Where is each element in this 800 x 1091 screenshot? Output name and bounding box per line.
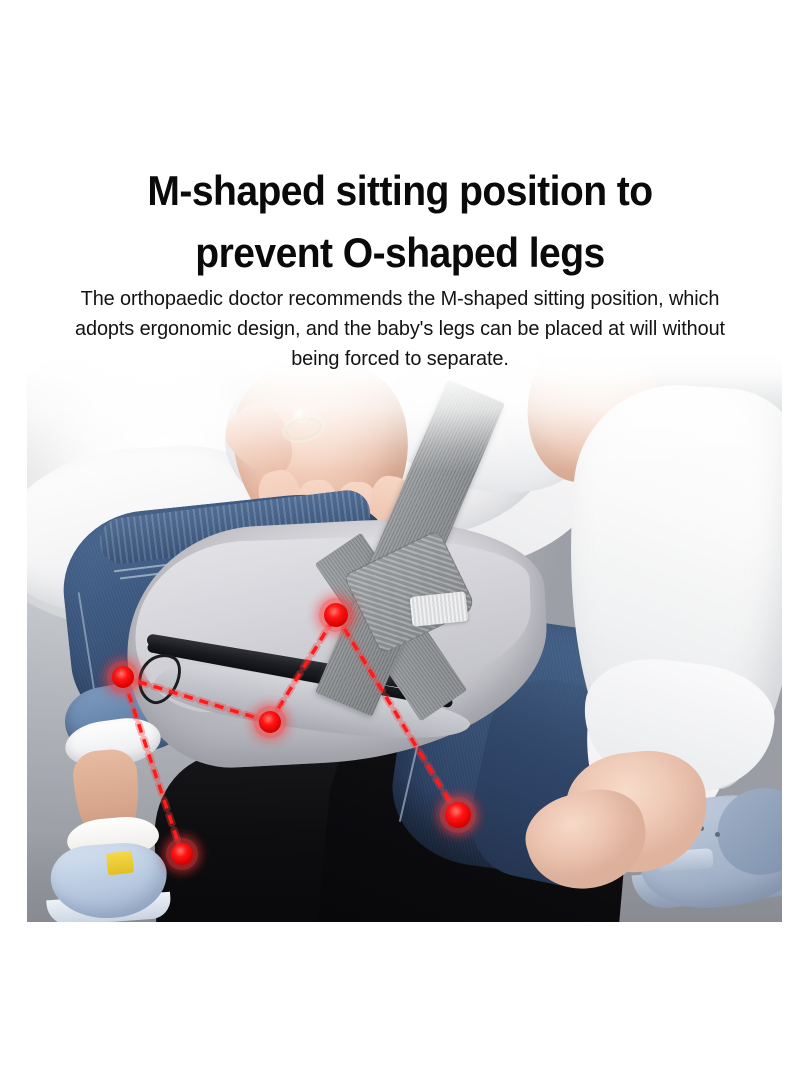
- left-white-margin: [0, 352, 27, 922]
- page-description-line-2: adopts ergonomic design, and the baby's …: [35, 314, 764, 344]
- lace-hole: [715, 832, 720, 837]
- baby-shoe-tag: [106, 851, 134, 876]
- page-description: The orthopaedic doctor recommends the M-…: [35, 284, 764, 374]
- right-white-margin: [782, 352, 800, 922]
- page-description-line-1: The orthopaedic doctor recommends the M-…: [35, 284, 764, 314]
- page-description-line-3: being forced to separate.: [35, 344, 764, 374]
- promo-image-canvas: M-shaped sitting position to prevent O-s…: [0, 0, 800, 1091]
- page-title: M-shaped sitting position to prevent O-s…: [28, 160, 772, 284]
- page-title-line-1: M-shaped sitting position to: [147, 167, 652, 214]
- product-lifestyle-photo: [27, 352, 782, 922]
- carrier-elastic-keeper: [410, 591, 469, 627]
- page-title-line-2: prevent O-shaped legs: [28, 222, 772, 284]
- bottom-white-margin: [0, 922, 800, 1091]
